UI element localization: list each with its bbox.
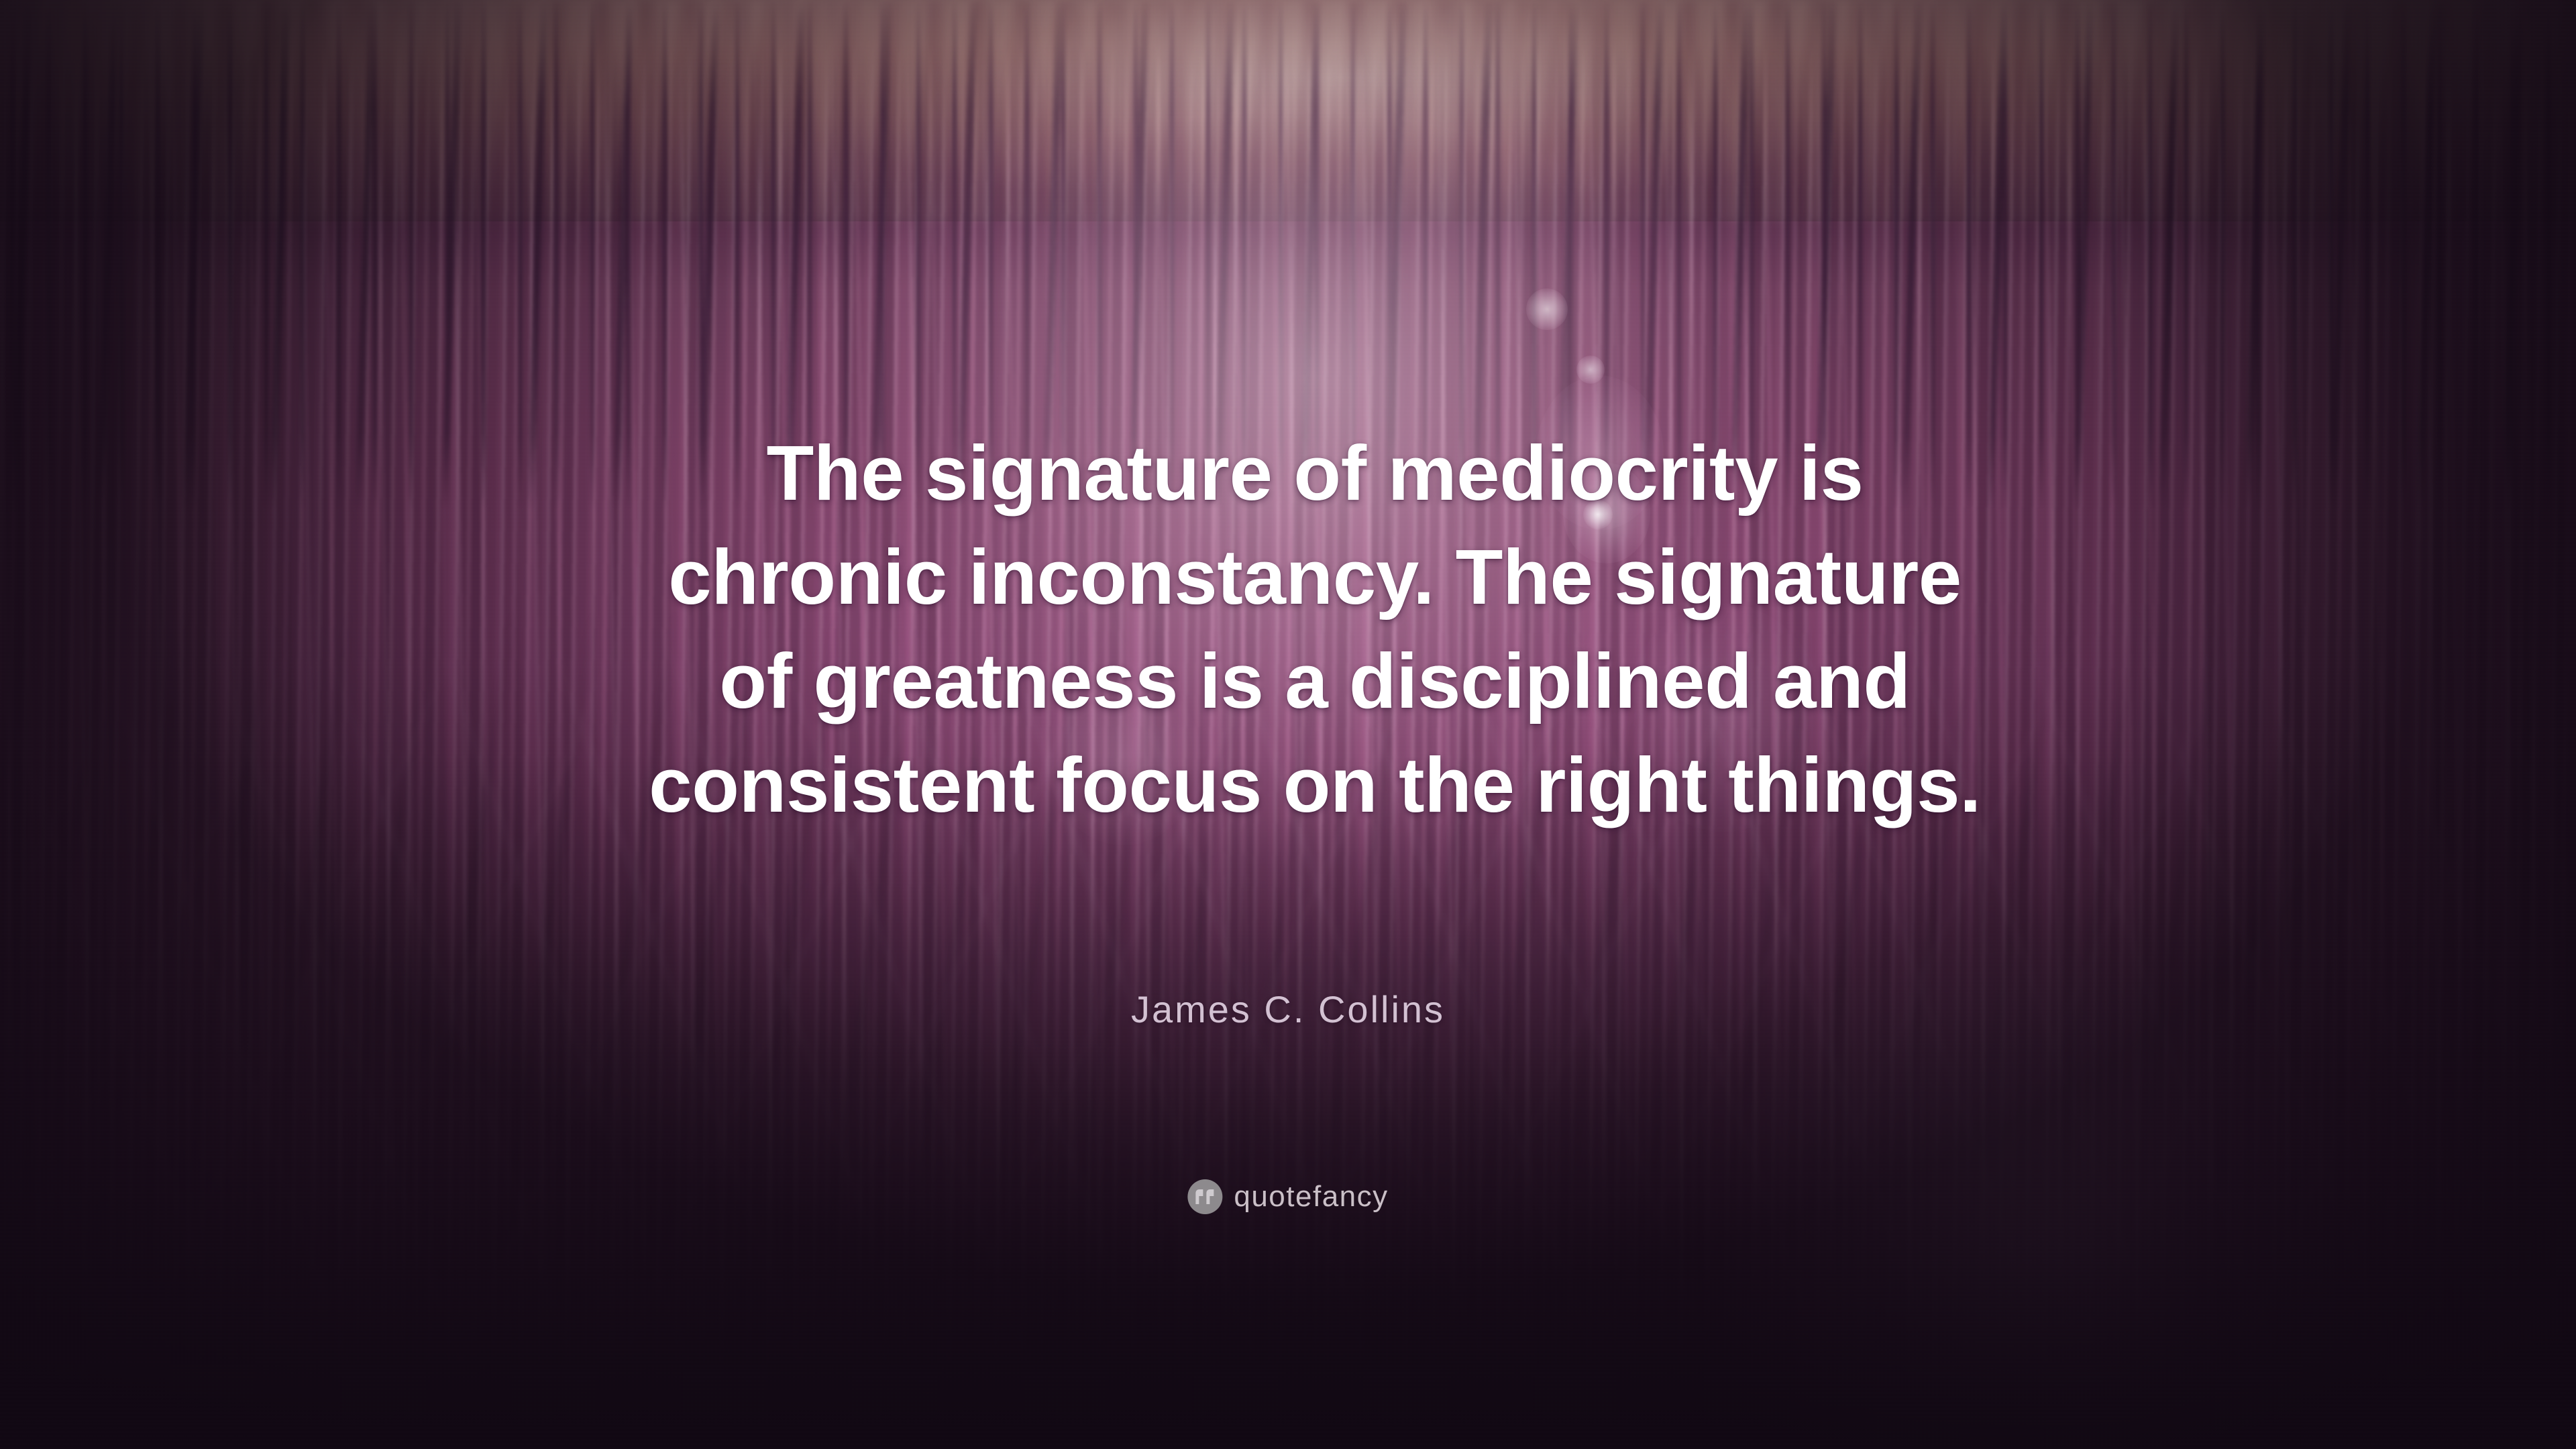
quote-line: of greatness is a disciplined and: [533, 629, 2096, 733]
quote-line: chronic inconstancy. The signature: [533, 525, 2096, 629]
quotefancy-wordmark: quotefancy: [1234, 1182, 1388, 1212]
quotefancy-logo[interactable]: quotefancy: [1187, 1179, 1388, 1214]
quote-author: James C. Collins: [506, 987, 2070, 1031]
quote-poster: The signature of mediocrity is chronic i…: [0, 0, 2576, 1449]
quote-line: The signature of mediocrity is: [533, 421, 2096, 525]
quote-line: consistent focus on the right things.: [533, 733, 2096, 837]
double-quote-icon: [1187, 1179, 1222, 1214]
poster-content: The signature of mediocrity is chronic i…: [0, 0, 2576, 1449]
quote-text: The signature of mediocrity is chronic i…: [533, 421, 2096, 837]
